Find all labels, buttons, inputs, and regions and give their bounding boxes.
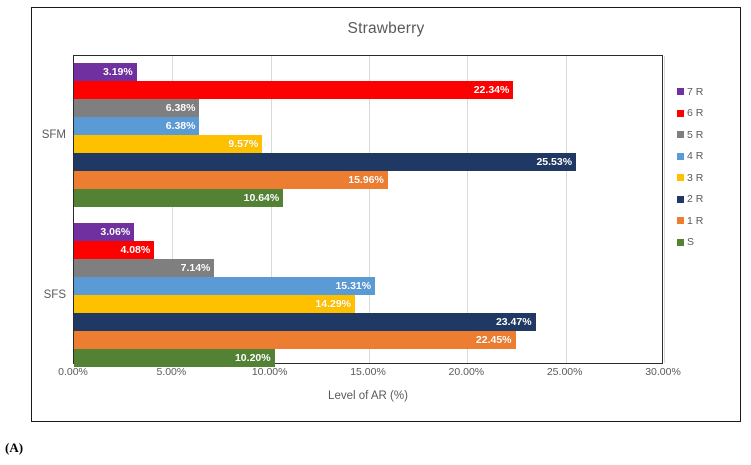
legend-swatch-icon [677,239,684,246]
bar-value-label: 22.34% [474,85,514,96]
bar-value-label: 25.53% [536,157,576,168]
bar: 6.38% [74,99,199,117]
legend-swatch-icon [677,174,684,181]
bar: 3.06% [74,223,134,241]
bar-value-label: 9.57% [228,139,262,150]
x-axis-tick-label: 15.00% [350,366,386,378]
legend-label: 4 R [687,150,703,162]
bar: 10.64% [74,189,283,207]
figure-caption: (A) [5,440,23,456]
bar-value-label: 23.47% [496,317,536,328]
bar-value-label: 22.45% [476,335,516,346]
legend-item[interactable]: 7 R [677,81,737,103]
legend-label: S [687,236,694,248]
bar: 14.29% [74,295,355,313]
bar-value-label: 14.29% [315,299,355,310]
bar: 23.47% [74,313,536,331]
x-axis-tick-label: 0.00% [58,366,88,378]
bar-value-label: 3.06% [100,227,134,238]
x-axis-tick-label: 5.00% [156,366,186,378]
legend-label: 3 R [687,172,703,184]
chart-title: Strawberry [32,20,740,38]
bar-value-label: 15.31% [335,281,375,292]
plot-area: 3.19%22.34%6.38%6.38%9.57%25.53%15.96%10… [73,55,663,364]
x-axis-tick-label: 10.00% [252,366,288,378]
legend-item[interactable]: 2 R [677,189,737,211]
x-axis-tick-label: 25.00% [547,366,583,378]
legend-label: 1 R [687,215,703,227]
bar: 25.53% [74,153,576,171]
bar: 6.38% [74,117,199,135]
y-axis-category-label: SFM [42,129,66,141]
legend-swatch-icon [677,88,684,95]
legend-item[interactable]: S [677,232,737,254]
bar-value-label: 6.38% [166,103,200,114]
x-axis-tick-label: 20.00% [449,366,485,378]
bar-value-label: 6.38% [166,121,200,132]
y-axis-category-label: SFS [44,289,66,301]
bars-layer: 3.19%22.34%6.38%6.38%9.57%25.53%15.96%10… [74,56,662,363]
bar: 15.31% [74,277,375,295]
legend-item[interactable]: 4 R [677,146,737,168]
bar: 9.57% [74,135,262,153]
legend-item[interactable]: 3 R [677,167,737,189]
bar: 22.45% [74,331,516,349]
x-axis-tick-label: 30.00% [645,366,681,378]
legend-item[interactable]: 5 R [677,124,737,146]
legend-label: 2 R [687,193,703,205]
bar-value-label: 7.14% [181,263,215,274]
legend-label: 5 R [687,129,703,141]
bar: 15.96% [74,171,388,189]
bar: 22.34% [74,81,513,99]
bar-value-label: 4.08% [120,245,154,256]
bar: 3.19% [74,63,137,81]
legend-swatch-icon [677,196,684,203]
bar: 4.08% [74,241,154,259]
chart-legend: 7 R6 R5 R4 R3 R2 R1 RS [677,81,737,253]
bar-value-label: 10.64% [244,193,284,204]
legend-swatch-icon [677,131,684,138]
bar-value-label: 10.20% [235,353,275,364]
legend-swatch-icon [677,153,684,160]
legend-item[interactable]: 1 R [677,210,737,232]
legend-item[interactable]: 6 R [677,103,737,125]
legend-swatch-icon [677,217,684,224]
bar-value-label: 3.19% [103,67,137,78]
bar-value-label: 15.96% [348,175,388,186]
bar: 10.20% [74,349,275,367]
gridline [664,56,665,363]
x-axis-title: Level of AR (%) [73,390,663,402]
legend-swatch-icon [677,110,684,117]
legend-label: 7 R [687,86,703,98]
bar: 7.14% [74,259,214,277]
x-axis-ticks: 0.00%5.00%10.00%15.00%20.00%25.00%30.00% [73,366,663,384]
legend-label: 6 R [687,107,703,119]
figure-frame: Strawberry 3.19%22.34%6.38%6.38%9.57%25.… [31,7,741,422]
